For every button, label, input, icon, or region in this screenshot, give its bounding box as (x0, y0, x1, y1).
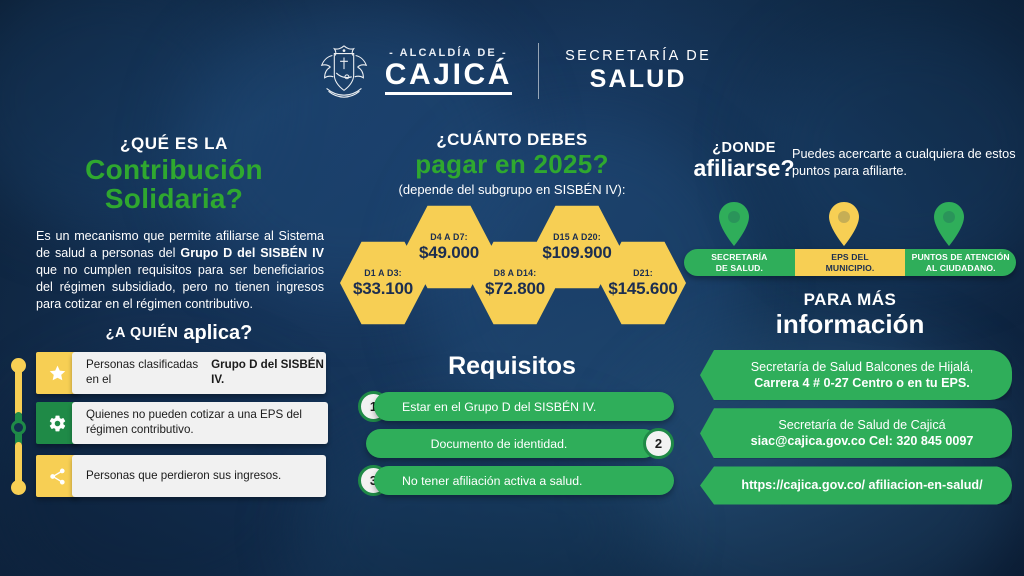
timeline-connector (10, 356, 26, 492)
band-3-line-1: PUNTOS DE ATENCIÓN (912, 252, 1010, 262)
para-mas-line-2: información (684, 311, 1016, 337)
hexagon-5-label: D21: (633, 268, 653, 278)
hexagon-1-value: $33.100 (353, 279, 413, 299)
contact-chip-address[interactable]: Secretaría de Salud Balcones de Hijalá, … (700, 350, 1012, 400)
center-column: ¿CUÁNTO DEBES pagar en 2025? (depende de… (344, 130, 680, 197)
left-column: ¿QUÉ ES LA Contribución Solidaria? Es un… (14, 134, 334, 313)
band-2-line-2: MUNICIPIO. (826, 263, 875, 273)
aquien-card-3-text: Personas que perdieron sus ingresos. (72, 455, 326, 497)
para-mas-line-1: PARA MÁS (684, 290, 1016, 310)
contact-chip-url[interactable]: https://cajica.gov.co/ afiliacion-en-sal… (700, 466, 1012, 504)
location-label-band: SECRETARÍA DE SALUD. EPS DEL MUNICIPIO. … (684, 249, 1016, 276)
band-2-line-1: EPS DEL (831, 252, 868, 262)
header-brand-bar: - ALCALDÍA DE - CAJICÁ SECRETARÍA DE SAL… (0, 40, 1024, 102)
band-segment-eps[interactable]: EPS DEL MUNICIPIO. (795, 249, 906, 276)
timeline-dot-3 (11, 480, 26, 495)
left-title-line-1: ¿QUÉ ES LA (14, 134, 334, 154)
aquien-kicker: ¿A QUIÉN (106, 325, 179, 341)
hexagon-3-value: $72.800 (485, 279, 545, 299)
map-pin-icon-secretaria (719, 202, 749, 246)
requisito-3-text: No tener afiliación activa a salud. (374, 466, 674, 495)
location-pin-group (684, 196, 1016, 252)
chip-2-bold: siac@cajica.gov.co Cel: 320 845 0097 (751, 434, 974, 448)
donde-note: Puedes acercarte a cualquiera de estos p… (792, 146, 1020, 180)
map-pin-icon-eps (829, 202, 859, 246)
secretaria-line-2: SALUD (565, 65, 711, 94)
donde-heading: ¿DONDE afiliarse? (690, 140, 798, 180)
price-hexagon-group: D1 A D3: $33.100 D4 A D7: $49.000 D8 A D… (340, 204, 688, 320)
band-1-line-2: DE SALUD. (716, 263, 763, 273)
card-1-bold: Grupo D del SISBÉN IV. (211, 358, 326, 387)
chip-1-normal: Secretaría de Salud Balcones de Hijalá, (751, 360, 974, 374)
para-mas-heading: PARA MÁS información (684, 290, 1016, 337)
timeline-dot-1 (11, 358, 26, 373)
chip-2-normal: Secretaría de Salud de Cajicá (778, 418, 945, 432)
aquien-card-2-text: Quienes no pueden cotizar a una EPS del … (72, 402, 328, 444)
donde-line-1: ¿DONDE (690, 140, 798, 156)
hexagon-5-value: $145.600 (608, 279, 677, 299)
brand-name: CAJICÁ (385, 59, 512, 96)
requisitos-list: 1 Estar en el Grupo D del SISBÉN IV. Doc… (358, 392, 674, 503)
requisito-row-3[interactable]: 3 No tener afiliación activa a salud. (358, 466, 674, 495)
card-1-prefix: Personas clasificadas en el (86, 358, 211, 387)
aquien-card-1[interactable]: Personas clasificadas en el Grupo D del … (36, 352, 326, 394)
donde-line-2: afiliarse? (690, 157, 798, 180)
brand-lockup: - ALCALDÍA DE - CAJICÁ (385, 47, 512, 96)
hexagon-2-label: D4 A D7: (430, 232, 468, 242)
hexagon-2-value: $49.000 (419, 243, 479, 263)
aquien-heading: ¿A QUIÉNaplica? (14, 322, 344, 345)
timeline-dot-2 (11, 420, 26, 435)
card-3-prefix: Personas que perdieron sus ingresos. (86, 469, 281, 484)
requisitos-title: Requisitos (344, 352, 680, 381)
left-title-line-3: Solidaria? (14, 185, 334, 212)
aquien-card-2[interactable]: Quienes no pueden cotizar a una EPS del … (36, 402, 328, 444)
center-title-line-2: pagar en 2025? (344, 151, 680, 177)
requisito-row-2[interactable]: Documento de identidad. 2 (358, 429, 674, 458)
requisito-1-text: Estar en el Grupo D del SISBÉN IV. (374, 392, 674, 421)
aquien-card-1-text: Personas clasificadas en el Grupo D del … (72, 352, 326, 394)
band-1-line-1: SECRETARÍA (711, 252, 767, 262)
hexagon-1-label: D1 A D3: (364, 268, 402, 278)
aquien-word: aplica? (183, 322, 252, 344)
band-3-line-2: AL CIUDADANO. (926, 263, 996, 273)
body-mid: que no cumplen requisitos para ser benef… (36, 263, 324, 311)
band-segment-puntos[interactable]: PUNTOS DE ATENCIÓN AL CIUDADANO. (905, 249, 1016, 276)
chip-3-bold: https://cajica.gov.co/ afiliacion-en-sal… (741, 478, 982, 492)
requisito-2-number: 2 (643, 428, 674, 459)
card-2-prefix: Quienes no pueden cotizar a una EPS del … (86, 408, 328, 437)
secretaria-line-1: SECRETARÍA DE (565, 48, 711, 64)
requisito-row-1[interactable]: 1 Estar en el Grupo D del SISBÉN IV. (358, 392, 674, 421)
secretaria-lockup: SECRETARÍA DE SALUD (565, 48, 711, 94)
requisito-2-text: Documento de identidad. (366, 429, 658, 458)
contact-info-list: Secretaría de Salud Balcones de Hijalá, … (700, 350, 1012, 513)
left-title-line-2: Contribución (14, 156, 334, 183)
left-body-paragraph: Es un mecanismo que permite afiliarse al… (14, 228, 334, 312)
aquien-heading-group: ¿A QUIÉNaplica? (14, 322, 344, 345)
band-segment-secretaria[interactable]: SECRETARÍA DE SALUD. (684, 249, 795, 276)
aquien-card-3[interactable]: Personas que perdieron sus ingresos. (36, 455, 326, 497)
hexagon-4-label: D15 A D20: (553, 232, 601, 242)
hexagon-4-value: $109.900 (542, 243, 611, 263)
header-divider (538, 43, 539, 99)
hexagon-3-label: D8 A D14: (494, 268, 537, 278)
cajica-coat-of-arms-icon (313, 40, 375, 102)
infographic-canvas: - ALCALDÍA DE - CAJICÁ SECRETARÍA DE SAL… (0, 0, 1024, 576)
body-bold-1: Grupo D del SISBÉN IV (180, 246, 324, 260)
center-title-line-1: ¿CUÁNTO DEBES (344, 130, 680, 150)
chip-1-bold: Carrera 4 # 0-27 Centro o en tu EPS. (754, 376, 970, 390)
brand-kicker: - ALCALDÍA DE - (385, 47, 512, 59)
contact-chip-email-phone[interactable]: Secretaría de Salud de Cajicá siac@cajic… (700, 408, 1012, 458)
map-pin-icon-puntos (934, 202, 964, 246)
center-subtitle: (depende del subgrupo en SISBÉN IV): (344, 182, 680, 197)
